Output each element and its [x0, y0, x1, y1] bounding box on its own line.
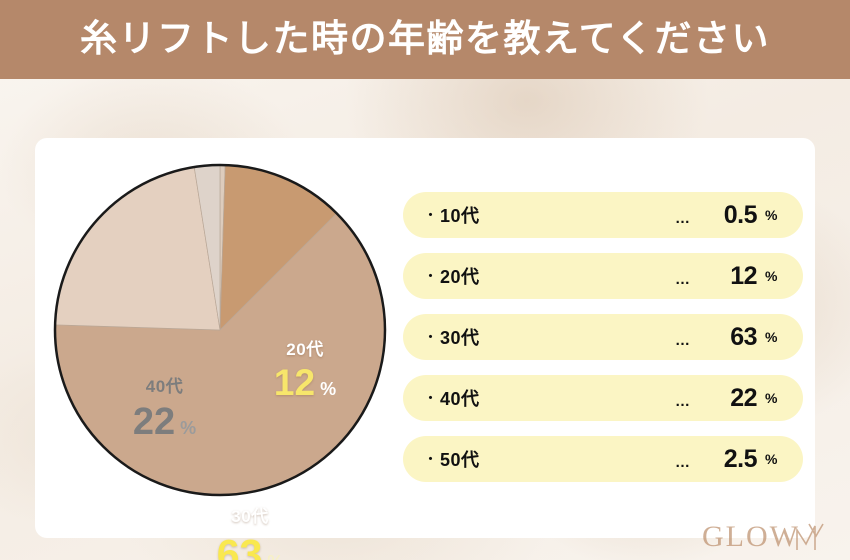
brand-name: GLOW — [702, 522, 800, 552]
legend-list: ・10代…0.5%・20代…12%・30代…63%・40代…22%・50代…2.… — [403, 192, 803, 482]
page-title: 糸リフトした時の年齢を教えてください — [80, 20, 770, 60]
legend-row[interactable]: ・10代…0.5% — [403, 192, 803, 238]
header-bar: 糸リフトした時の年齢を教えてください — [0, 0, 850, 79]
legend-bullet-icon: ・ — [423, 330, 438, 345]
legend-row-label: 50代 — [440, 446, 480, 472]
legend-row-value: 0.5 — [701, 201, 757, 230]
legend-dots: … — [675, 210, 691, 227]
legend-row-percent-sign: % — [765, 329, 781, 345]
legend-row-value: 2.5 — [701, 445, 757, 474]
pie-chart: 20代 12% 30代 63% 40代 22% — [35, 150, 405, 530]
brand-watermark: GLOW — [702, 522, 828, 552]
legend-dots: … — [675, 332, 691, 349]
pie-chart-svg — [50, 158, 390, 508]
legend-row-value: 63 — [701, 323, 757, 352]
legend-dots: … — [675, 393, 691, 410]
legend-row-percent-sign: % — [765, 268, 781, 284]
legend-dots: … — [675, 454, 691, 471]
legend-row-label: 10代 — [440, 202, 480, 228]
legend-row[interactable]: ・50代…2.5% — [403, 436, 803, 482]
legend-row[interactable]: ・20代…12% — [403, 253, 803, 299]
legend-bullet-icon: ・ — [423, 269, 438, 284]
legend-row-percent-sign: % — [765, 451, 781, 467]
legend-row-label: 20代 — [440, 263, 480, 289]
legend-row-value: 22 — [701, 384, 757, 413]
legend-row-label: 30代 — [440, 324, 480, 350]
pie-slices — [55, 165, 385, 495]
legend-row-value: 12 — [701, 262, 757, 291]
legend-bullet-icon: ・ — [423, 208, 438, 223]
legend-row[interactable]: ・40代…22% — [403, 375, 803, 421]
legend-row-label: 40代 — [440, 385, 480, 411]
legend-bullet-icon: ・ — [423, 452, 438, 467]
legend-row[interactable]: ・30代…63% — [403, 314, 803, 360]
content-card: 20代 12% 30代 63% 40代 22% ・10代…0.5%・20代…12… — [35, 138, 815, 538]
legend-row-percent-sign: % — [765, 390, 781, 406]
legend-dots: … — [675, 271, 691, 288]
brand-mark-icon — [794, 522, 828, 552]
legend-bullet-icon: ・ — [423, 391, 438, 406]
legend-row-percent-sign: % — [765, 207, 781, 223]
pie-slice-40代[interactable] — [55, 167, 220, 330]
